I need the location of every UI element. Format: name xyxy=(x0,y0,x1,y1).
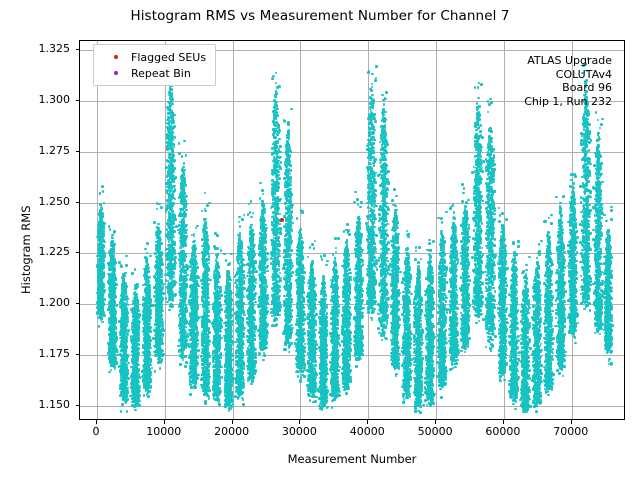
flagged-seus-marker-icon xyxy=(101,55,131,59)
y-tick-mark xyxy=(76,252,80,253)
gridline-horizontal xyxy=(80,152,624,153)
y-tick-label: 1.325 xyxy=(0,42,70,55)
y-tick-mark xyxy=(76,151,80,152)
y-tick-label: 1.250 xyxy=(0,195,70,208)
x-tick-mark xyxy=(571,420,572,424)
x-tick-mark xyxy=(503,420,504,424)
annotation-line-board: Board 96 xyxy=(524,81,612,95)
x-tick-mark xyxy=(232,420,233,424)
y-tick-mark xyxy=(76,100,80,101)
chart-title: Histogram RMS vs Measurement Number for … xyxy=(0,8,640,24)
y-tick-label: 1.275 xyxy=(0,144,70,157)
legend-item-flagged-seus[interactable]: Flagged SEUs xyxy=(101,50,206,64)
y-tick-mark xyxy=(76,405,80,406)
y-tick-label: 1.300 xyxy=(0,93,70,106)
legend-item-repeat-bin[interactable]: Repeat Bin xyxy=(101,66,206,80)
x-axis-label: Measurement Number xyxy=(79,452,625,466)
x-tick-label: 70000 xyxy=(526,425,616,438)
gridline-horizontal xyxy=(80,406,624,407)
flagged-seu-point xyxy=(280,218,283,221)
y-tick-label: 1.225 xyxy=(0,245,70,258)
y-tick-label: 1.150 xyxy=(0,398,70,411)
x-tick-mark xyxy=(164,420,165,424)
repeat-bin-marker-icon xyxy=(101,71,131,75)
y-tick-mark xyxy=(76,354,80,355)
gridline-horizontal xyxy=(80,203,624,204)
gridline-vertical xyxy=(233,41,234,419)
y-tick-mark xyxy=(76,303,80,304)
annotation-line-experiment: ATLAS Upgrade xyxy=(524,54,612,68)
legend-label-repeat-bin: Repeat Bin xyxy=(131,67,191,80)
legend-label-flagged-seus: Flagged SEUs xyxy=(131,51,206,64)
x-tick-mark xyxy=(435,420,436,424)
figure-canvas: Histogram RMS vs Measurement Number for … xyxy=(0,0,640,480)
annotation-line-chipversion: COLUTAv4 xyxy=(524,68,612,82)
annotation-line-chiprun: Chip 1, Run 232 xyxy=(524,95,612,109)
x-tick-mark xyxy=(96,420,97,424)
annotation-block: ATLAS Upgrade COLUTAv4 Board 96 Chip 1, … xyxy=(524,54,612,108)
y-tick-label: 1.200 xyxy=(0,296,70,309)
x-tick-mark xyxy=(367,420,368,424)
legend[interactable]: Flagged SEUs Repeat Bin xyxy=(93,44,216,86)
x-tick-mark xyxy=(299,420,300,424)
y-tick-label: 1.175 xyxy=(0,347,70,360)
y-tick-mark xyxy=(76,49,80,50)
y-tick-mark xyxy=(76,202,80,203)
